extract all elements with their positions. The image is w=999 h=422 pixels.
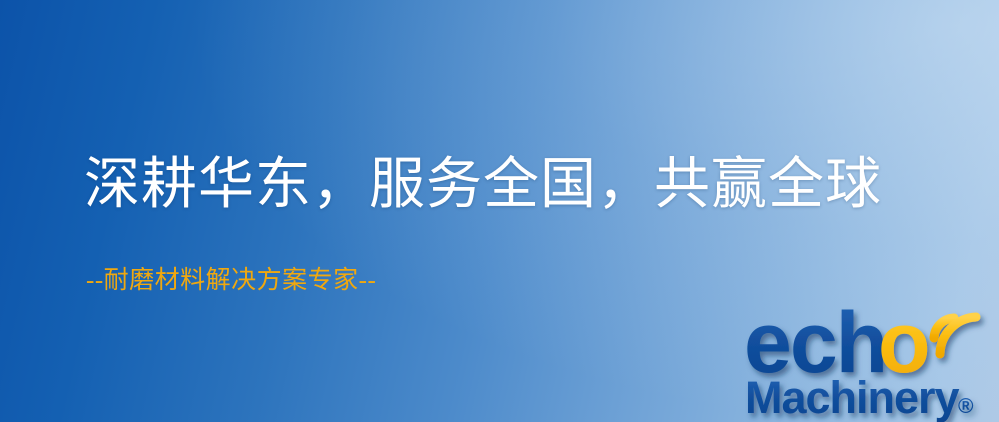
echo-machinery-logo[interactable]: ech o Machinery ® (744, 296, 996, 420)
logo-machinery-word: Machinery ® (745, 372, 974, 422)
echo-signal-waves-icon (934, 317, 976, 354)
banner-subtitle: --耐磨材料解决方案专家-- (86, 266, 376, 296)
hero-banner: 深耕华东，服务全国，共赢全球 --耐磨材料解决方案专家-- (0, 0, 999, 422)
logo-machinery-text: Machinery (745, 372, 960, 422)
registered-trademark-icon: ® (958, 395, 974, 418)
banner-headline: 深耕华东，服务全国，共赢全球 (84, 152, 882, 218)
